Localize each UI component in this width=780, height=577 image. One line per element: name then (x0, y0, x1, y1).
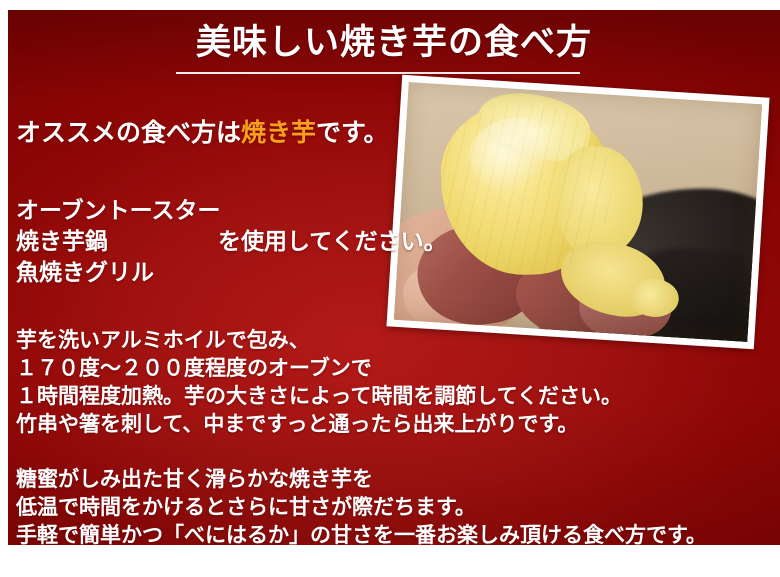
page-header: 美味しい焼き芋の食べ方 (8, 10, 780, 82)
recommendation-prefix: オススメの食べ方は (16, 118, 241, 147)
closing-block: 糖蜜がしみ出た甘く滑らかな焼き芋を 低温で時間をかけるとさらに甘さが際だちます。… (16, 465, 707, 545)
closing-line-3: 手軽で簡単かつ「べにはるか」の甘さを一番お楽しみ頂ける食べ方です。 (16, 521, 707, 545)
red-content-panel: 美味しい焼き芋の食べ方 (8, 10, 780, 545)
appliance-item-yakiimo-pot: 焼き芋鍋 (16, 227, 220, 258)
cooking-steps: 芋を洗いアルミホイルで包み、 １７０度〜２００度程度のオーブンで １時間程度加熱… (16, 326, 622, 438)
closing-line-2: 低温で時間をかけるとさらに甘さが際だちます。 (16, 493, 707, 521)
closing-line-3-suffix: の甘さを一番お楽しみ頂ける食べ方です。 (310, 523, 707, 545)
recommendation-highlight: 焼き芋 (241, 118, 316, 147)
step-line-1: 芋を洗いアルミホイルで包み、 (16, 326, 622, 354)
step-line-3: １時間程度加熱。芋の大きさによって時間を調節してください。 (16, 382, 622, 410)
appliance-list: オーブントースター 焼き芋鍋 魚焼きグリル (16, 196, 220, 289)
variety-name-benihauka: 「べにはるか」 (163, 523, 310, 545)
appliance-item-oven-toaster: オーブントースター (16, 196, 220, 227)
title-underline-rule (176, 72, 580, 74)
page-root: 美味しい焼き芋の食べ方 (0, 0, 780, 577)
photo-vignette (394, 82, 762, 342)
page-title: 美味しい焼き芋の食べ方 (8, 22, 780, 64)
recommendation-suffix: です。 (316, 118, 389, 147)
step-line-4: 竹串や箸を刺して、中まですっと通ったら出来上がりです。 (16, 410, 622, 438)
appliance-item-fish-grill: 魚焼きグリル (16, 258, 220, 289)
step-line-2: １７０度〜２００度程度のオーブンで (16, 354, 622, 382)
closing-line-1: 糖蜜がしみ出た甘く滑らかな焼き芋を (16, 465, 707, 493)
closing-line-3-prefix: 手軽で簡単かつ (16, 523, 163, 545)
sweet-potato-photo-frame (386, 75, 769, 350)
recommendation-line: オススメの食べ方は焼き芋です。 (16, 118, 389, 148)
appliance-use-instruction: を使用してください。 (218, 227, 447, 258)
sweet-potato-photo (394, 82, 762, 342)
